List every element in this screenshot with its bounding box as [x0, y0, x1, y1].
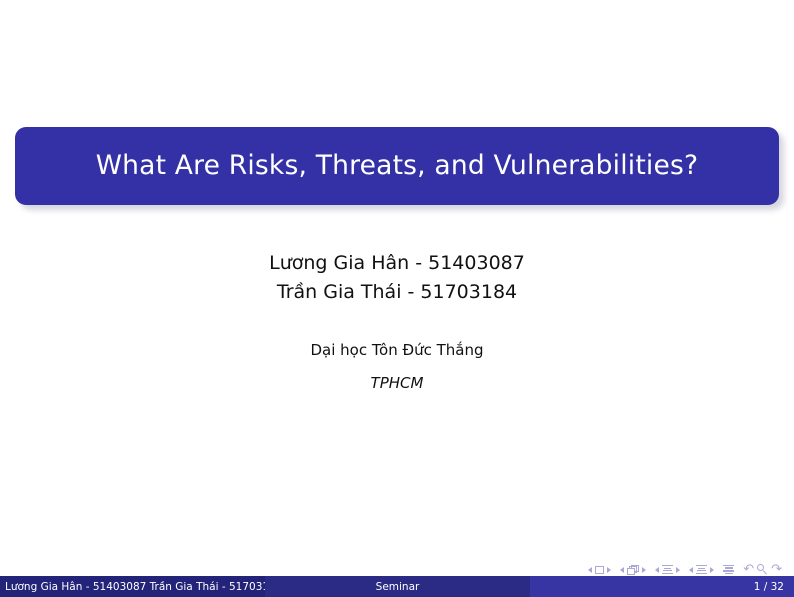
slide-navigation-group[interactable]	[588, 566, 611, 574]
slide-icon[interactable]	[595, 566, 604, 574]
subsection-icon[interactable]	[662, 565, 673, 574]
subsection-navigation-group[interactable]	[655, 565, 680, 574]
presentation-slide: What Are Risks, Threats, and Vulnerabili…	[0, 0, 794, 597]
go-back-icon[interactable]: ↶	[743, 565, 754, 575]
footline-page-number: 1 / 32	[530, 576, 794, 597]
institute-label: Dại học Tôn Đức Thắng	[0, 340, 794, 360]
footline: Lương Gia Hân - 51403087 Trần Gia Thái -…	[0, 576, 794, 597]
frame-navigation-group[interactable]	[620, 565, 646, 575]
frame-stack-icon[interactable]	[627, 565, 639, 575]
author-line-1: Lương Gia Hân - 51403087	[0, 249, 794, 278]
section-next-arrow-icon[interactable]	[710, 567, 714, 573]
frame-next-arrow-icon[interactable]	[642, 567, 646, 573]
page-title: What Are Risks, Threats, and Vulnerabili…	[96, 151, 699, 180]
slide-next-arrow-icon[interactable]	[607, 567, 611, 573]
title-block-body: What Are Risks, Threats, and Vulnerabili…	[15, 127, 779, 205]
go-forward-icon[interactable]: ↷	[771, 565, 782, 575]
history-navigation-group[interactable]: ↶ ↷	[743, 564, 782, 575]
section-prev-arrow-icon[interactable]	[689, 567, 693, 573]
subsection-next-arrow-icon[interactable]	[676, 567, 680, 573]
section-icon[interactable]	[696, 565, 707, 574]
presentation-document-icon[interactable]	[723, 565, 734, 575]
author-list: Lương Gia Hân - 51403087 Trần Gia Thái -…	[0, 249, 794, 307]
location-label: TPHCM	[0, 373, 794, 393]
section-navigation-group[interactable]	[689, 565, 714, 574]
title-block: What Are Risks, Threats, and Vulnerabili…	[15, 127, 779, 205]
author-line-2: Trần Gia Thái - 51703184	[0, 278, 794, 307]
search-icon[interactable]	[757, 564, 768, 575]
beamer-navigation-symbols[interactable]: ↶ ↷	[588, 564, 782, 575]
footline-title: Seminar	[265, 576, 530, 597]
footline-author: Lương Gia Hân - 51403087 Trần Gia Thái -…	[0, 576, 265, 597]
frame-prev-arrow-icon[interactable]	[620, 567, 624, 573]
subsection-prev-arrow-icon[interactable]	[655, 567, 659, 573]
slide-prev-arrow-icon[interactable]	[588, 567, 592, 573]
